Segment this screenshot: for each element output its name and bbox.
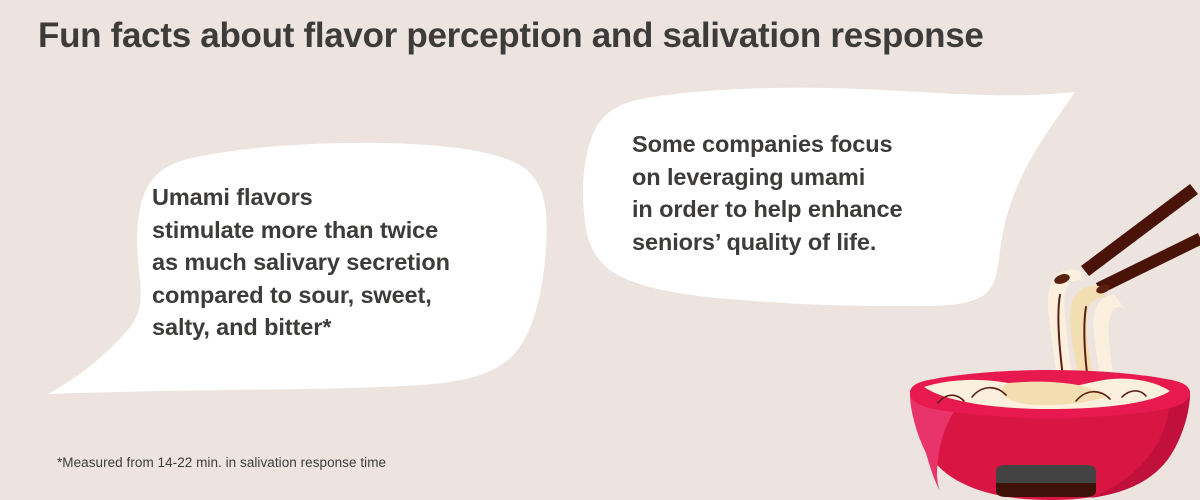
infographic-canvas: Fun facts about flavor perception and sa… xyxy=(0,0,1200,500)
chopstick-lower xyxy=(1096,233,1200,294)
bubble-line: compared to sour, sweet, xyxy=(152,279,450,312)
bubble-line: Some companies focus xyxy=(632,128,903,161)
bubble-line: stimulate more than twice xyxy=(152,214,450,247)
bubble-line: on leveraging umami xyxy=(632,161,903,194)
bubble-line: salty, and bitter* xyxy=(152,311,450,344)
bubble-line: Umami flavors xyxy=(152,181,450,214)
bubble-line: as much salivary secretion xyxy=(152,246,450,279)
speech-bubble-umami-text: Umami flavors stimulate more than twice … xyxy=(152,181,450,344)
ramen-bowl-illustration xyxy=(890,175,1200,500)
chopsticks-icon xyxy=(1081,184,1200,294)
ramen-bowl xyxy=(910,370,1190,500)
bubble-line: in order to help enhance xyxy=(632,193,903,226)
footnote-text: *Measured from 14-22 min. in salivation … xyxy=(57,455,386,470)
bowl-base-top xyxy=(996,465,1096,483)
bubble-line: seniors’ quality of life. xyxy=(632,226,903,259)
speech-bubble-seniors-text: Some companies focus on leveraging umami… xyxy=(632,128,903,258)
